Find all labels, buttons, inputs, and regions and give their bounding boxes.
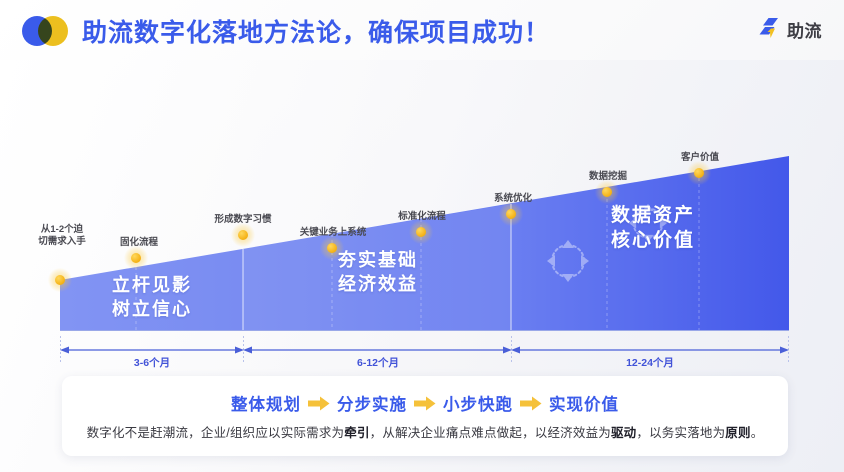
summary-part-7: 。 — [751, 426, 764, 440]
flow-step-1: 整体规划 — [231, 391, 301, 415]
timeline-axis: 3-6个月 6-12个月 12-24个月 — [0, 336, 844, 372]
milestone-dot[interactable] — [48, 268, 72, 292]
milestone-label-line1: 从1-2个迫 — [41, 224, 83, 235]
milestone-label-2: 固化流程 — [120, 237, 158, 249]
flow-steps: 整体规划 分步实施 小步快跑 实现价值 — [231, 391, 619, 415]
stage-2-line1: 夯实基础 — [338, 249, 418, 273]
timeline-label-3: 12-24个月 — [626, 355, 674, 370]
summary-part-4: 驱动 — [611, 426, 636, 440]
milestone-label-4: 关键业务上系统 — [300, 227, 367, 239]
timeline-label-1: 3-6个月 — [134, 355, 170, 370]
milestone-dot[interactable] — [231, 223, 255, 247]
milestone-label-8: 客户价值 — [681, 152, 719, 164]
timeline-arrows — [0, 336, 844, 372]
stage-title-1: 立杆见影 树立信心 — [112, 274, 192, 322]
milestone-label-1: 从1-2个迫 切需求入手 从1-2个迫 切需求入手 — [38, 224, 86, 248]
milestone-label-line2: 切需求入手 — [38, 236, 86, 247]
ramp-area: 从1-2个迫 切需求入手 从1-2个迫 切需求入手 固化流程 形成数字习惯 关键… — [0, 62, 844, 362]
milestone-dot[interactable] — [499, 202, 523, 226]
cycle-arrows-icon-1 — [545, 238, 591, 289]
milestone-dot[interactable] — [687, 161, 711, 185]
brand-name: 助流 — [787, 17, 822, 42]
milestone-label-6: 系统优化 — [494, 193, 532, 205]
right-arrow-icon — [520, 396, 542, 411]
stage-title-3: 数据资产 核心价值 — [611, 203, 695, 253]
summary-text: 数字化不是赶潮流，企业/组织应以实际需求为牵引，从解决企业痛点难点做起，以经济效… — [87, 422, 764, 441]
header-bar: 助流数字化落地方法论，确保项目成功！ 助流 — [0, 0, 844, 62]
milestone-dot[interactable] — [124, 246, 148, 270]
stage-1-line1: 立杆见影 — [112, 274, 192, 298]
flow-step-2: 分步实施 — [337, 391, 407, 415]
timeline-label-2: 6-12个月 — [357, 355, 399, 370]
summary-part-2: 牵引 — [344, 426, 369, 440]
summary-part-3: ，从解决企业痛点难点做起，以经济效益为 — [370, 426, 611, 440]
right-arrow-icon — [308, 396, 330, 411]
summary-part-6: 原则 — [725, 426, 750, 440]
stage-3-line2: 核心价值 — [611, 228, 695, 253]
summary-part-5: ，以务实落地为 — [636, 426, 725, 440]
flow-step-3: 小步快跑 — [443, 391, 513, 415]
milestone-label-5: 标准化流程 — [398, 211, 446, 223]
milestone-dot[interactable] — [409, 220, 433, 244]
stage-2-line2: 经济效益 — [338, 273, 418, 297]
summary-part-1: 数字化不是赶潮流，企业/组织应以实际需求为 — [87, 426, 345, 440]
milestone-dot[interactable] — [595, 180, 619, 204]
right-arrow-icon — [414, 396, 436, 411]
flow-step-4: 实现价值 — [549, 391, 619, 415]
brand-lockup: 助流 — [756, 16, 822, 42]
stage-title-2: 夯实基础 经济效益 — [338, 249, 418, 297]
methodology-ramp-chart: 从1-2个迫 切需求入手 从1-2个迫 切需求入手 固化流程 形成数字习惯 关键… — [0, 62, 844, 362]
stage-3-line1: 数据资产 — [611, 203, 695, 228]
milestone-label-3: 形成数字习惯 — [214, 214, 271, 226]
stage-1-line2: 树立信心 — [112, 298, 192, 322]
slide-root: 助流数字化落地方法论，确保项目成功！ 助流 — [0, 0, 844, 472]
milestone-label-7: 数据挖掘 — [589, 171, 627, 183]
page-title: 助流数字化落地方法论，确保项目成功！ — [82, 13, 550, 49]
summary-card: 整体规划 分步实施 小步快跑 实现价值 数字化不是赶潮流，企业/组织应以实际需求… — [62, 376, 788, 456]
lightning-bolt-icon — [756, 16, 782, 42]
two-overlapping-circles-logo-icon — [22, 16, 70, 46]
